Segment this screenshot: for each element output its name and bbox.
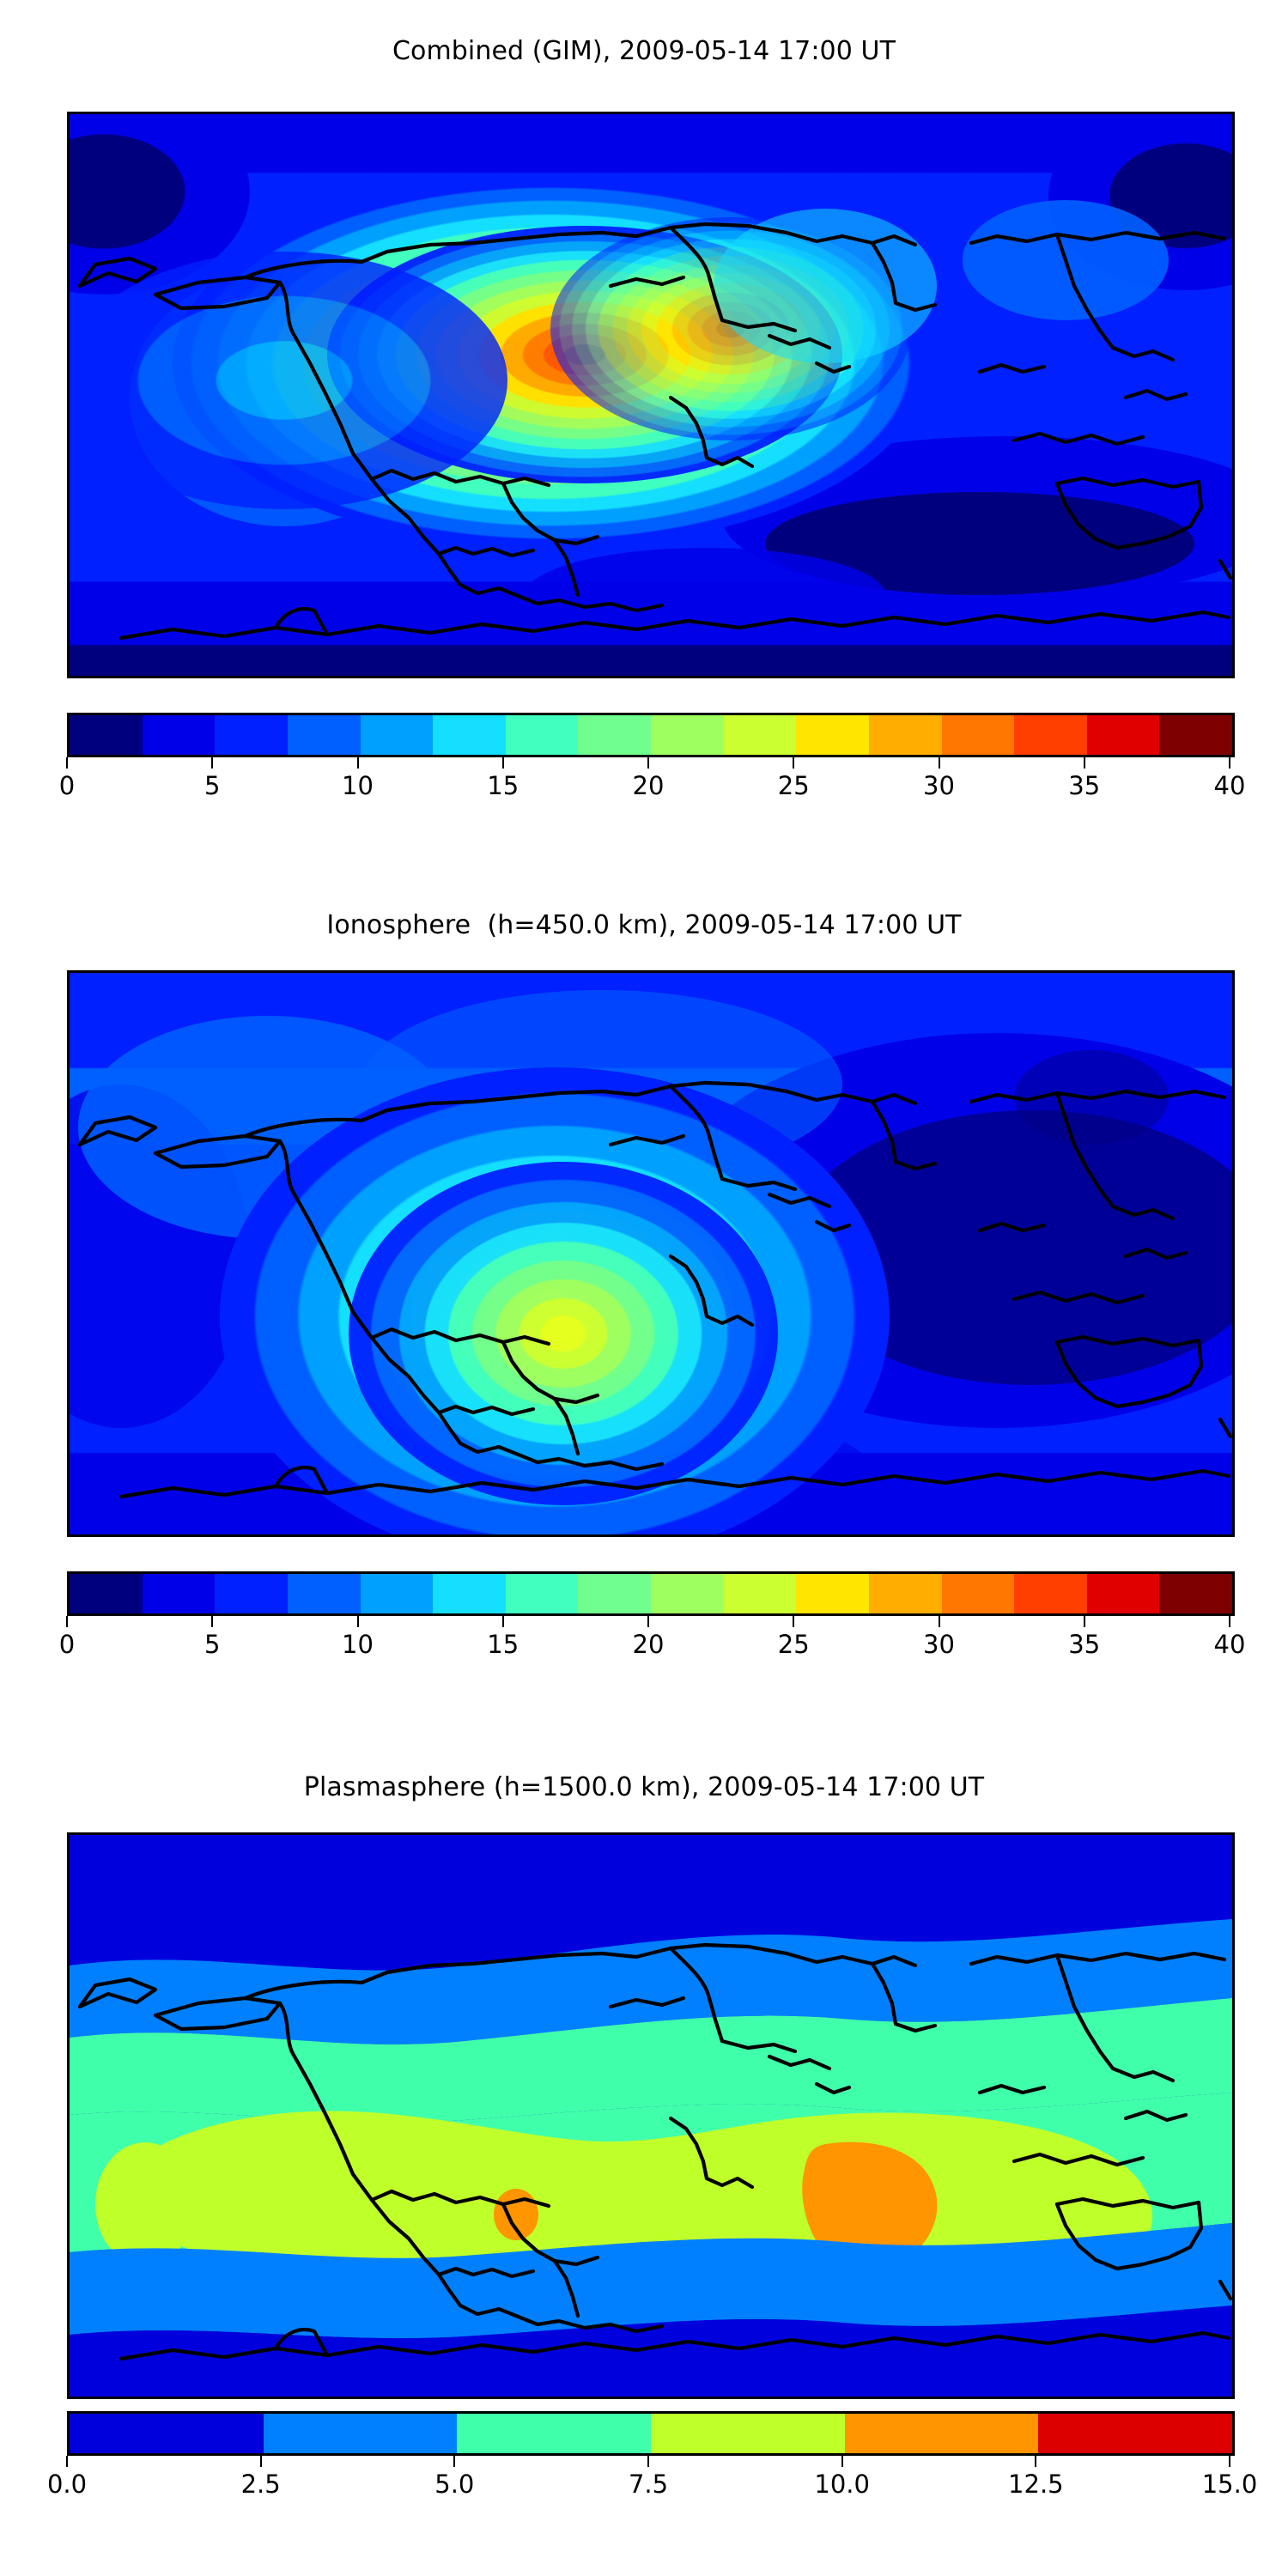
colorbar-tick-label-5: 25: [778, 771, 810, 800]
colorbar-tick-label-4: 20: [633, 771, 665, 800]
colorbar-segment-12: [942, 715, 1015, 755]
colorbar-segment-6: [506, 1574, 579, 1613]
colorbar-tick-label-3: 15: [487, 771, 519, 800]
colorbar-tick-label-2: 10: [342, 771, 374, 800]
colorbar-tick-label-5: 25: [778, 1630, 810, 1659]
colorbar-segment-14: [1087, 1574, 1160, 1613]
colorbar-tick-label-1: 2.5: [241, 2470, 281, 2499]
colorbar-segment-13: [1014, 715, 1087, 755]
colorbar-tick-label-1: 5: [204, 1630, 220, 1659]
colorbar-tick-label-1: 5: [204, 771, 220, 800]
colorbar-segment-0: [70, 715, 143, 755]
map-ionosphere: [67, 970, 1235, 1537]
colorbar-tick-5: [793, 1616, 794, 1627]
colorbar-tick-2: [357, 757, 359, 769]
colorbar-tick-label-6: 15.0: [1202, 2470, 1258, 2499]
panel-title-combined-gim: Combined (GIM), 2009-05-14 17:00 UT: [0, 36, 1288, 66]
colorbar-segment-3: [288, 715, 361, 755]
colorbar-segment-11: [869, 1574, 942, 1613]
colorbar-tick-8: [1229, 1616, 1230, 1627]
colorbar-plasmasphere: 0.02.55.07.510.012.515.0: [67, 2411, 1230, 2502]
colorbar-tick-label-8: 40: [1214, 771, 1246, 800]
colorbar-segment-2: [457, 2414, 651, 2453]
colorbar-segment-3: [651, 2414, 845, 2453]
colorbar-segment-9: [724, 715, 797, 755]
colorbar-labels-ionosphere: 0510152025303540: [64, 1628, 1232, 1662]
colorbar-tick-label-2: 10: [342, 1630, 374, 1659]
colorbar-ticks-plasmasphere: [64, 2456, 1232, 2468]
colorbar-segment-2: [215, 1574, 288, 1613]
colorbar-tick-7: [1084, 757, 1085, 769]
colorbar-segment-8: [651, 715, 724, 755]
colorbar-tick-label-4: 10.0: [814, 2470, 870, 2499]
colorbar-gradient-combined-gim: [67, 713, 1235, 757]
colorbar-tick-label-7: 35: [1068, 1630, 1100, 1659]
colorbar-combined-gim: 0510152025303540: [67, 713, 1230, 804]
colorbar-tick-1: [211, 757, 213, 769]
colorbar-tick-6: [939, 1616, 940, 1627]
colorbar-tick-0: [66, 2456, 68, 2467]
map-plasmasphere: [67, 1832, 1235, 2399]
colorbar-tick-2: [453, 2456, 455, 2467]
figure-canvas: Combined (GIM), 2009-05-14 17:00 UT: [0, 0, 1288, 2576]
colorbar-segment-0: [70, 2414, 264, 2453]
colorbar-segment-6: [506, 715, 579, 755]
colorbar-tick-label-3: 15: [487, 1630, 519, 1659]
colorbar-tick-3: [502, 1616, 504, 1627]
colorbar-tick-0: [66, 1616, 68, 1627]
colorbar-segment-1: [143, 715, 216, 755]
colorbar-segment-5: [1038, 2414, 1232, 2453]
colorbar-tick-label-4: 20: [633, 1630, 665, 1659]
colorbar-tick-4: [647, 1616, 649, 1627]
colorbar-tick-3: [647, 2456, 649, 2467]
colorbar-segment-10: [796, 715, 869, 755]
colorbar-segment-9: [724, 1574, 797, 1613]
colorbar-tick-label-6: 30: [923, 771, 955, 800]
colorbar-tick-label-0: 0: [59, 771, 75, 800]
colorbar-tick-5: [1035, 2456, 1036, 2467]
colorbar-tick-label-5: 12.5: [1008, 2470, 1064, 2499]
colorbar-segment-4: [361, 715, 434, 755]
colorbar-tick-label-2: 5.0: [434, 2470, 474, 2499]
colorbar-segment-4: [845, 2414, 1039, 2453]
colorbar-tick-0: [66, 757, 68, 769]
colorbar-tick-label-3: 7.5: [629, 2470, 668, 2499]
colorbar-labels-plasmasphere: 0.02.55.07.510.012.515.0: [64, 2468, 1232, 2502]
panel-title-plasmasphere: Plasmasphere (h=1500.0 km), 2009-05-14 1…: [0, 1772, 1288, 1802]
colorbar-segment-5: [433, 1574, 506, 1613]
colorbar-segment-7: [578, 715, 651, 755]
colorbar-segment-1: [143, 1574, 216, 1613]
colorbar-ticks-combined-gim: [64, 757, 1232, 769]
colorbar-segment-2: [215, 715, 288, 755]
colorbar-tick-label-7: 35: [1068, 771, 1100, 800]
colorbar-tick-4: [841, 2456, 843, 2467]
map-canvas-combined-gim: [70, 114, 1232, 676]
colorbar-segment-13: [1014, 1574, 1087, 1613]
colorbar-tick-8: [1229, 757, 1230, 769]
colorbar-ticks-ionosphere: [64, 1616, 1232, 1628]
colorbar-segment-10: [796, 1574, 869, 1613]
panel-title-ionosphere: Ionosphere (h=450.0 km), 2009-05-14 17:0…: [0, 910, 1288, 940]
colorbar-segment-15: [1159, 1574, 1232, 1613]
colorbar-segment-3: [288, 1574, 361, 1613]
colorbar-ionosphere: 0510152025303540: [67, 1571, 1230, 1662]
colorbar-segment-12: [942, 1574, 1015, 1613]
colorbar-tick-label-0: 0.0: [47, 2470, 87, 2499]
colorbar-segment-4: [361, 1574, 434, 1613]
map-canvas-plasmasphere: [70, 1835, 1232, 2397]
colorbar-tick-1: [260, 2456, 262, 2467]
map-combined-gim: [67, 112, 1235, 678]
colorbar-tick-5: [793, 757, 794, 769]
colorbar-tick-6: [1229, 2456, 1230, 2467]
colorbar-tick-label-0: 0: [59, 1630, 75, 1659]
colorbar-segment-11: [869, 715, 942, 755]
colorbar-segment-15: [1159, 715, 1232, 755]
colorbar-tick-label-6: 30: [923, 1630, 955, 1659]
colorbar-segment-0: [70, 1574, 143, 1613]
colorbar-tick-7: [1084, 1616, 1085, 1627]
colorbar-segment-14: [1087, 715, 1160, 755]
colorbar-tick-label-8: 40: [1214, 1630, 1246, 1659]
colorbar-tick-6: [939, 757, 940, 769]
colorbar-tick-1: [211, 1616, 213, 1627]
colorbar-tick-3: [502, 757, 504, 769]
colorbar-tick-2: [357, 1616, 359, 1627]
colorbar-gradient-ionosphere: [67, 1571, 1235, 1616]
colorbar-labels-combined-gim: 0510152025303540: [64, 769, 1232, 804]
colorbar-segment-7: [578, 1574, 651, 1613]
colorbar-segment-1: [264, 2414, 458, 2453]
colorbar-gradient-plasmasphere: [67, 2411, 1235, 2456]
map-canvas-ionosphere: [70, 973, 1232, 1534]
colorbar-tick-4: [647, 757, 649, 769]
colorbar-segment-8: [651, 1574, 724, 1613]
colorbar-segment-5: [433, 715, 506, 755]
